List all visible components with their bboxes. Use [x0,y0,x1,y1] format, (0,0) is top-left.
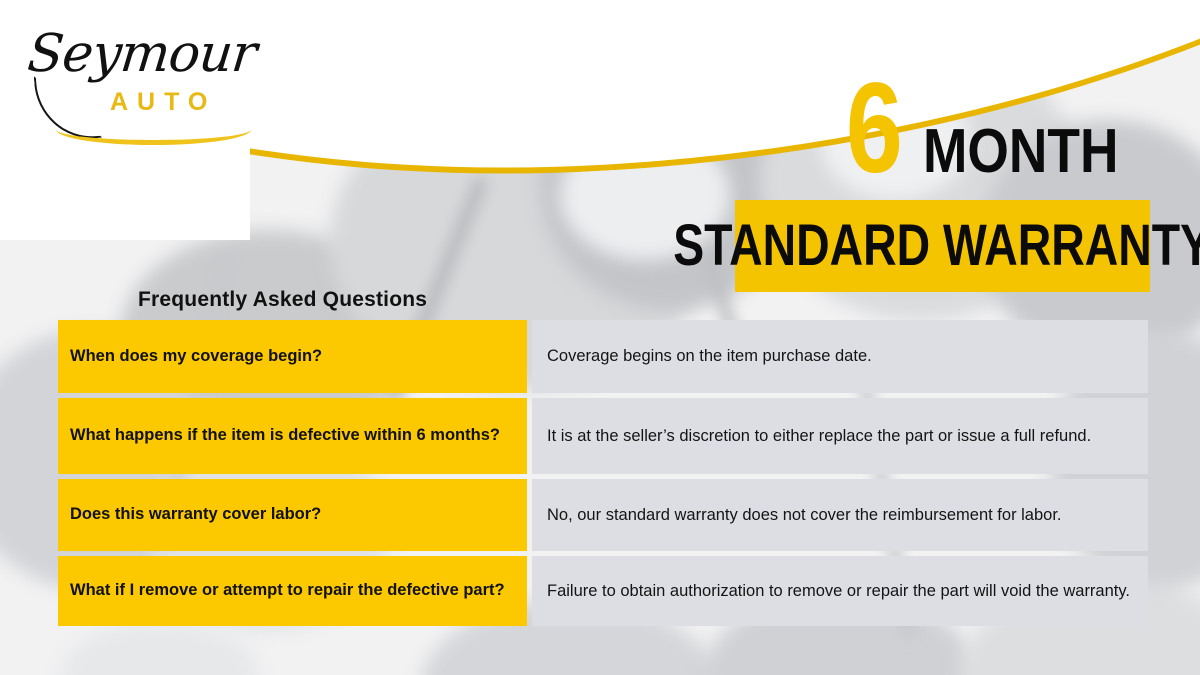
faq-answer-cell: Failure to obtain authorization to remov… [532,556,1148,626]
standard-warranty-banner: STANDARD WARRANTY [735,200,1150,292]
faq-answer-text: Coverage begins on the item purchase dat… [547,345,1134,367]
faq-question-text: What if I remove or attempt to repair th… [70,580,505,602]
logo-sub-text: AUTO [110,88,216,117]
logo-underline-swoosh-icon [56,114,251,145]
seymour-auto-logo: Seymour AUTO [24,22,254,134]
faq-table: When does my coverage begin? Coverage be… [58,320,1148,626]
table-row: Does this warranty cover labor? No, our … [58,479,1148,551]
table-row: What happens if the item is defective wi… [58,398,1148,474]
faq-question-cell: What happens if the item is defective wi… [58,398,527,474]
logo-script-text: Seymour [25,24,259,84]
faq-question-cell: What if I remove or attempt to repair th… [58,556,527,626]
faq-question-text: What happens if the item is defective wi… [70,425,500,447]
faq-answer-text: It is at the seller’s discretion to eith… [547,425,1134,447]
faq-answer-cell: Coverage begins on the item purchase dat… [532,320,1148,393]
faq-answer-text: No, our standard warranty does not cover… [547,504,1134,526]
duration-number: 6 [845,74,900,184]
faq-question-cell: Does this warranty cover labor? [58,479,527,551]
duration-unit: MONTH [923,123,1118,184]
table-row: What if I remove or attempt to repair th… [58,556,1148,626]
faq-question-cell: When does my coverage begin? [58,320,527,393]
table-row: When does my coverage begin? Coverage be… [58,320,1148,393]
warranty-slide: Seymour AUTO 6 MONTH STANDARD WARRANTY F… [0,0,1200,675]
faq-answer-text: Failure to obtain authorization to remov… [547,580,1134,602]
faq-question-text: Does this warranty cover labor? [70,504,321,526]
faq-answer-cell: It is at the seller’s discretion to eith… [532,398,1148,474]
faq-question-text: When does my coverage begin? [70,346,322,368]
standard-warranty-label: STANDARD WARRANTY [674,217,1200,275]
warranty-duration-heading: 6 MONTH [832,74,1150,184]
faq-section-title: Frequently Asked Questions [138,288,427,312]
faq-answer-cell: No, our standard warranty does not cover… [532,479,1148,551]
